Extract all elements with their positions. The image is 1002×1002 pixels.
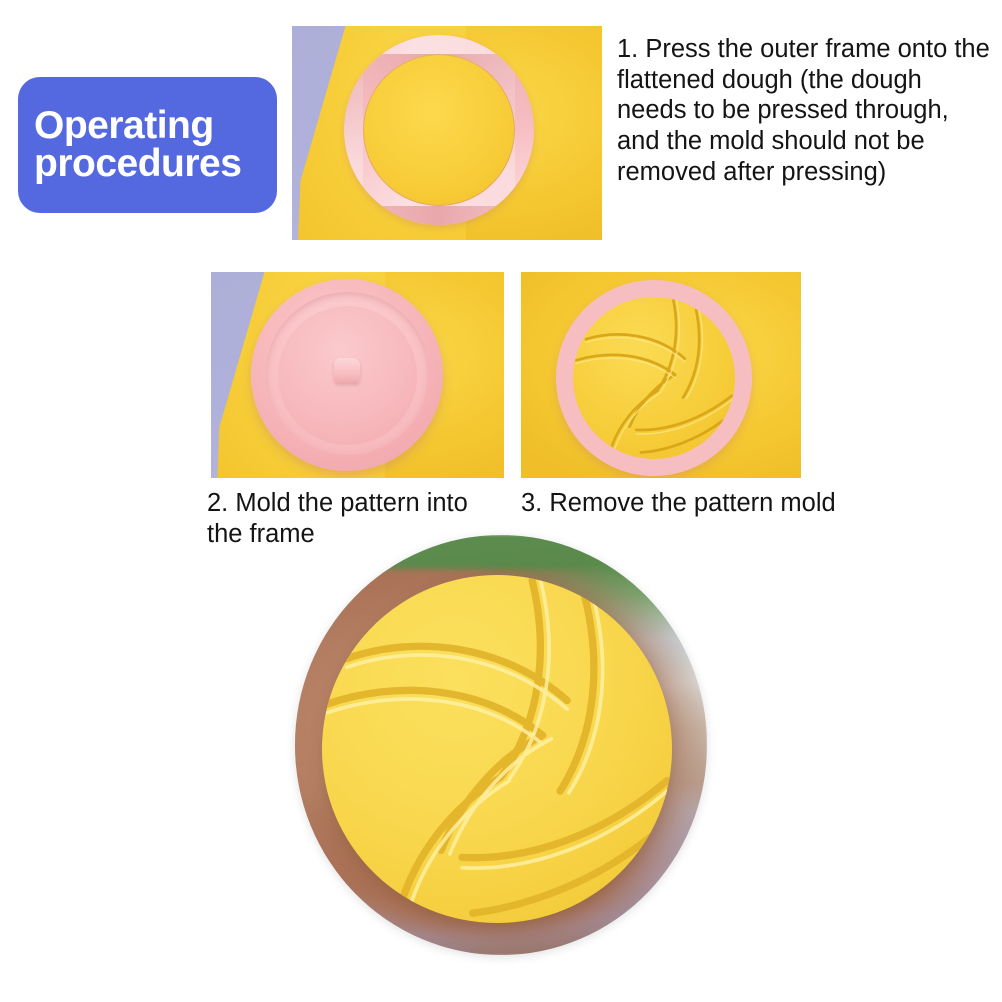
operating-procedures-badge: Operating procedures: [18, 77, 277, 213]
step-3-photo: [521, 272, 801, 478]
volleyball-grooves: [322, 575, 672, 924]
pink-pattern-mold-disc: [278, 306, 417, 445]
pink-outer-frame-ring: [556, 280, 752, 476]
pink-outer-frame-ring: [344, 35, 534, 225]
operating-procedures-label: Operating procedures: [34, 107, 241, 183]
pink-outer-frame-ring: [251, 279, 443, 471]
step-1-instruction-text: 1. Press the outer frame onto the flatte…: [617, 34, 992, 188]
step-1-photo: [292, 26, 602, 240]
step-3-caption: 3. Remove the pattern mold: [521, 488, 881, 519]
pink-frame-inner-wall: [266, 292, 429, 455]
finished-product-photo: [295, 535, 707, 955]
volleyball-pattern-cookie: [322, 575, 672, 924]
mold-handle-tab: [334, 358, 360, 383]
step-2-photo: [211, 272, 504, 478]
